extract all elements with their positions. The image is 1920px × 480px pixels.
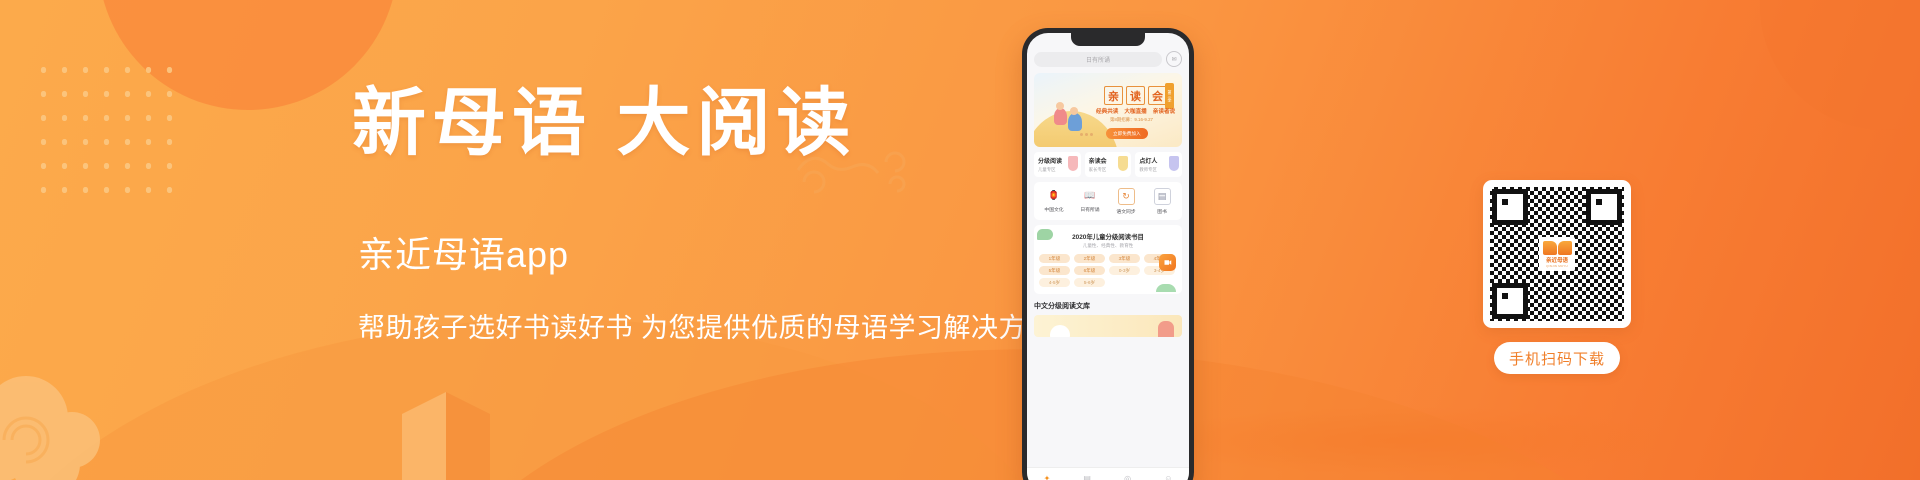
qr-finder-icon <box>1586 189 1622 225</box>
library-pill-decor <box>1158 321 1174 337</box>
app-hero-banner[interactable]: 亲 读 会 第三季 经典共读 大咖直播 亲读者说 第8期招募：9.16-9.27… <box>1034 73 1182 147</box>
grade-chip[interactable]: 2年级 <box>1074 254 1105 263</box>
bookmark-icon <box>1118 156 1128 171</box>
phone-screen: 日有所诵 ✉ 亲 读 会 第三季 经典共读 <box>1027 33 1189 480</box>
hero-feature: 经典共读 <box>1096 107 1118 115</box>
booklist-subtitle: 儿童性、经典性、教育性 <box>1039 243 1177 249</box>
compass-icon: ◎ <box>1124 475 1131 480</box>
grade-chip[interactable]: 1年级 <box>1039 254 1070 263</box>
booklist-title: 2020年儿童分级阅读书目 <box>1039 232 1177 241</box>
tab-profile[interactable]: ☺ <box>1164 475 1172 480</box>
library-section-title: 中文分级阅读文库 <box>1034 301 1182 311</box>
booklist-card[interactable]: 2020年儿童分级阅读书目 儿童性、经典性、教育性 1年级 2年级 3年级 4年… <box>1034 225 1182 294</box>
app-search-row: 日有所诵 ✉ <box>1034 51 1182 67</box>
quick-icon-daily-recite[interactable]: 📖 日有所诵 <box>1073 188 1107 215</box>
qr-pixel-matrix: 亲近母语 QINJIN MUYU <box>1490 187 1624 321</box>
hero-title-char: 读 <box>1126 86 1145 105</box>
message-icon[interactable]: ✉ <box>1166 51 1182 67</box>
hero-subtitle: 亲近母语app <box>358 226 1012 278</box>
hero-copy: 新母语 大阅读 亲近母语app 帮助孩子选好书读好书 为您提供优质的母语学习解决… <box>352 86 1012 345</box>
qr-finder-icon <box>1492 189 1528 225</box>
bookmark-icon <box>1068 156 1078 171</box>
play-video-icon[interactable] <box>1159 254 1176 271</box>
qr-download-block: 亲近母语 QINJIN MUYU 手机扫码下载 <box>1483 180 1631 374</box>
hero-feature: 大咖直播 <box>1124 107 1146 115</box>
hero-kid-illustration <box>1054 108 1067 125</box>
age-chip[interactable]: 4-5岁 <box>1039 278 1070 287</box>
leaf-decor-icon <box>1037 229 1053 240</box>
hero-tagline: 帮助孩子选好书读好书 为您提供优质的母语学习解决方案 <box>358 306 1012 345</box>
qr-code[interactable]: 亲近母语 QINJIN MUYU <box>1483 180 1631 328</box>
hero-kid-head <box>1056 102 1064 110</box>
promo-banner: 新母语 大阅读 亲近母语app 帮助孩子选好书读好书 为您提供优质的母语学习解决… <box>0 0 1920 480</box>
hero-feature-list: 经典共读 大咖直播 亲读者说 <box>1096 107 1175 115</box>
user-icon: ☺ <box>1164 475 1172 480</box>
age-chip[interactable]: 0-3岁 <box>1109 266 1140 275</box>
category-card-row: 分级阅读 儿童专区 亲读会 家长专区 点灯人 教师专区 <box>1034 152 1182 177</box>
decor-cube <box>398 384 494 480</box>
phone-notch <box>1071 33 1145 46</box>
qr-logo-subtext: QINJIN MUYU <box>1546 264 1568 268</box>
category-card-graded-reading[interactable]: 分级阅读 儿童专区 <box>1034 152 1081 177</box>
app-tabbar: ✦ ▤ ◎ ☺ <box>1027 467 1189 480</box>
book-logo-icon <box>1543 241 1572 255</box>
hero-kid-head <box>1070 107 1078 115</box>
quick-icon-sync[interactable]: ↻ 语文同步 <box>1109 188 1143 215</box>
qr-logo-text: 亲近母语 <box>1546 256 1568 264</box>
library-circle-decor <box>1050 325 1070 337</box>
quick-icon-label: 图书 <box>1145 208 1179 215</box>
hero-join-button[interactable]: 立即免费加入 <box>1106 128 1148 139</box>
tab-read[interactable]: ▤ <box>1083 475 1091 480</box>
quick-icon-label: 语文同步 <box>1109 208 1143 215</box>
phone-mockup: 日有所诵 ✉ 亲 读 会 第三季 经典共读 <box>1022 28 1194 480</box>
tab-discover[interactable]: ◎ <box>1124 475 1131 480</box>
quick-icon-chinese-culture[interactable]: 🏮 中国文化 <box>1037 188 1071 215</box>
bookmark-icon <box>1169 156 1179 171</box>
tab-home[interactable]: ✦ <box>1044 475 1051 480</box>
decor-dot-grid <box>33 58 173 208</box>
carousel-dots[interactable] <box>1080 133 1093 136</box>
hero-feature: 亲读者说 <box>1153 107 1175 115</box>
sync-icon: ↻ <box>1118 188 1135 205</box>
grade-chip[interactable]: 6年级 <box>1074 266 1105 275</box>
quick-icon-label: 中国文化 <box>1037 206 1071 213</box>
decor-phone-shadow <box>1140 406 1680 476</box>
lantern-icon: 🏮 <box>1047 188 1062 203</box>
qr-center-logo: 亲近母语 QINJIN MUYU <box>1539 237 1575 271</box>
page-title: 新母语 大阅读 <box>352 86 1012 164</box>
grade-chip-grid: 1年级 2年级 3年级 4年级 5年级 6年级 0-3岁 3-4岁 4-5岁 5… <box>1039 254 1177 287</box>
book-icon: ▤ <box>1154 188 1171 205</box>
hero-title-char: 亲 <box>1104 86 1123 105</box>
open-book-icon: 📖 <box>1083 188 1098 203</box>
hero-date-text: 第8期招募：9.16-9.27 <box>1110 117 1153 123</box>
quick-icon-label: 日有所诵 <box>1073 206 1107 213</box>
search-input[interactable]: 日有所诵 <box>1034 52 1162 67</box>
home-icon: ✦ <box>1044 475 1051 480</box>
quick-icon-books[interactable]: ▤ 图书 <box>1145 188 1179 215</box>
hero-kid-illustration <box>1068 113 1082 131</box>
decor-circle-top-right <box>1760 0 1920 130</box>
hero-ribbon: 第三季 <box>1165 83 1174 109</box>
category-card-teacher[interactable]: 点灯人 教师专区 <box>1135 152 1182 177</box>
download-button[interactable]: 手机扫码下载 <box>1494 342 1620 374</box>
hero-banner-title: 亲 读 会 <box>1104 86 1167 105</box>
library-banner[interactable] <box>1034 315 1182 337</box>
quick-icon-row: 🏮 中国文化 📖 日有所诵 ↻ 语文同步 ▤ 图书 <box>1034 182 1182 220</box>
category-card-parent-club[interactable]: 亲读会 家长专区 <box>1085 152 1132 177</box>
book-tab-icon: ▤ <box>1083 475 1091 480</box>
grade-chip[interactable]: 5年级 <box>1039 266 1070 275</box>
decor-cloud-bottom-left <box>0 348 194 480</box>
age-chip[interactable]: 5-6岁 <box>1074 278 1105 287</box>
grade-chip[interactable]: 3年级 <box>1109 254 1140 263</box>
qr-finder-icon <box>1492 283 1528 319</box>
